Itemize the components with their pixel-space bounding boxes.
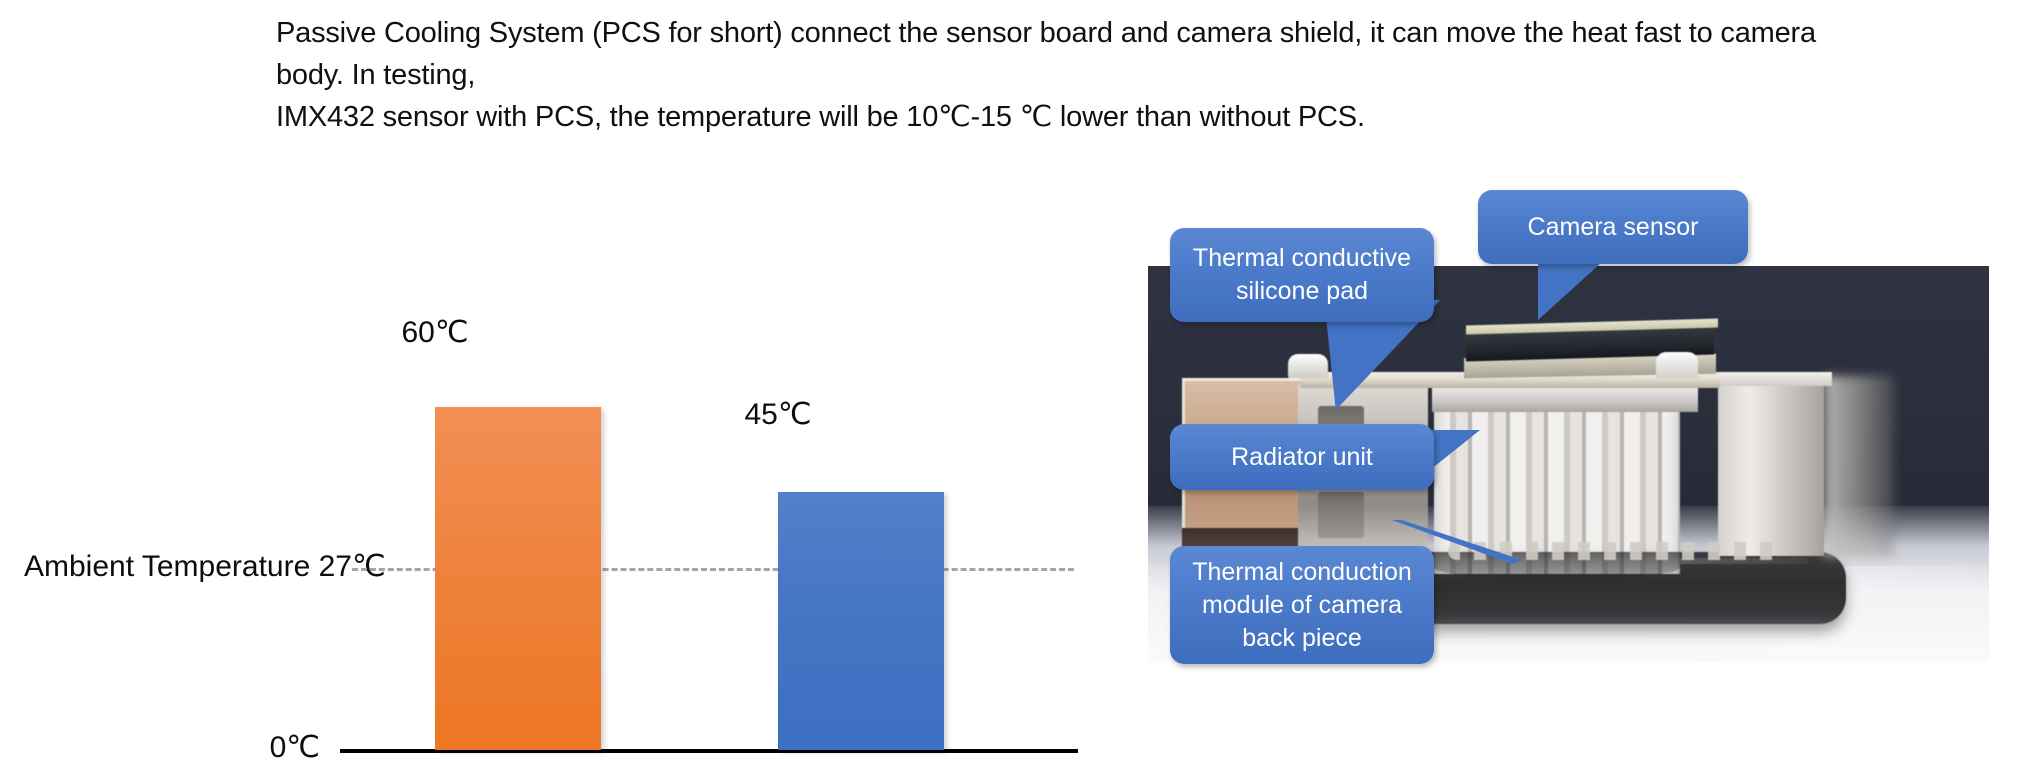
photo-right-blur — [1824, 376, 1894, 556]
camera-sensor-callout-pointer — [1538, 262, 1602, 320]
slide-root: Passive Cooling System (PCS for short) c… — [0, 0, 2027, 769]
bar-with-pcs — [778, 492, 944, 750]
photo-right-shield-plate — [1718, 380, 1824, 556]
photo-component-cap-right — [1656, 352, 1698, 378]
baseline-axis-label: 0℃ — [150, 730, 320, 765]
ambient-temperature-label: Ambient Temperature 27℃ — [24, 549, 334, 584]
bar-value-without-pcs: 60℃ — [335, 315, 535, 350]
temperature-bar-chart: Ambient Temperature 27℃ 0℃ 60℃ Without P… — [0, 120, 1120, 720]
bar-value-with-pcs: 45℃ — [678, 397, 878, 432]
silicone-pad-callout: Thermal conductive silicone pad — [1170, 228, 1434, 322]
photo-component-cap-left — [1288, 354, 1328, 378]
bar-without-pcs — [435, 407, 601, 750]
photo-connector-slot-lower — [1318, 492, 1364, 538]
camera-sensor-callout: Camera sensor — [1478, 190, 1748, 264]
radiator-unit-callout: Radiator unit — [1170, 424, 1434, 490]
photo-heatsink-top-plate — [1432, 386, 1698, 412]
back-piece-callout: Thermal conduction module of camera back… — [1170, 546, 1434, 664]
